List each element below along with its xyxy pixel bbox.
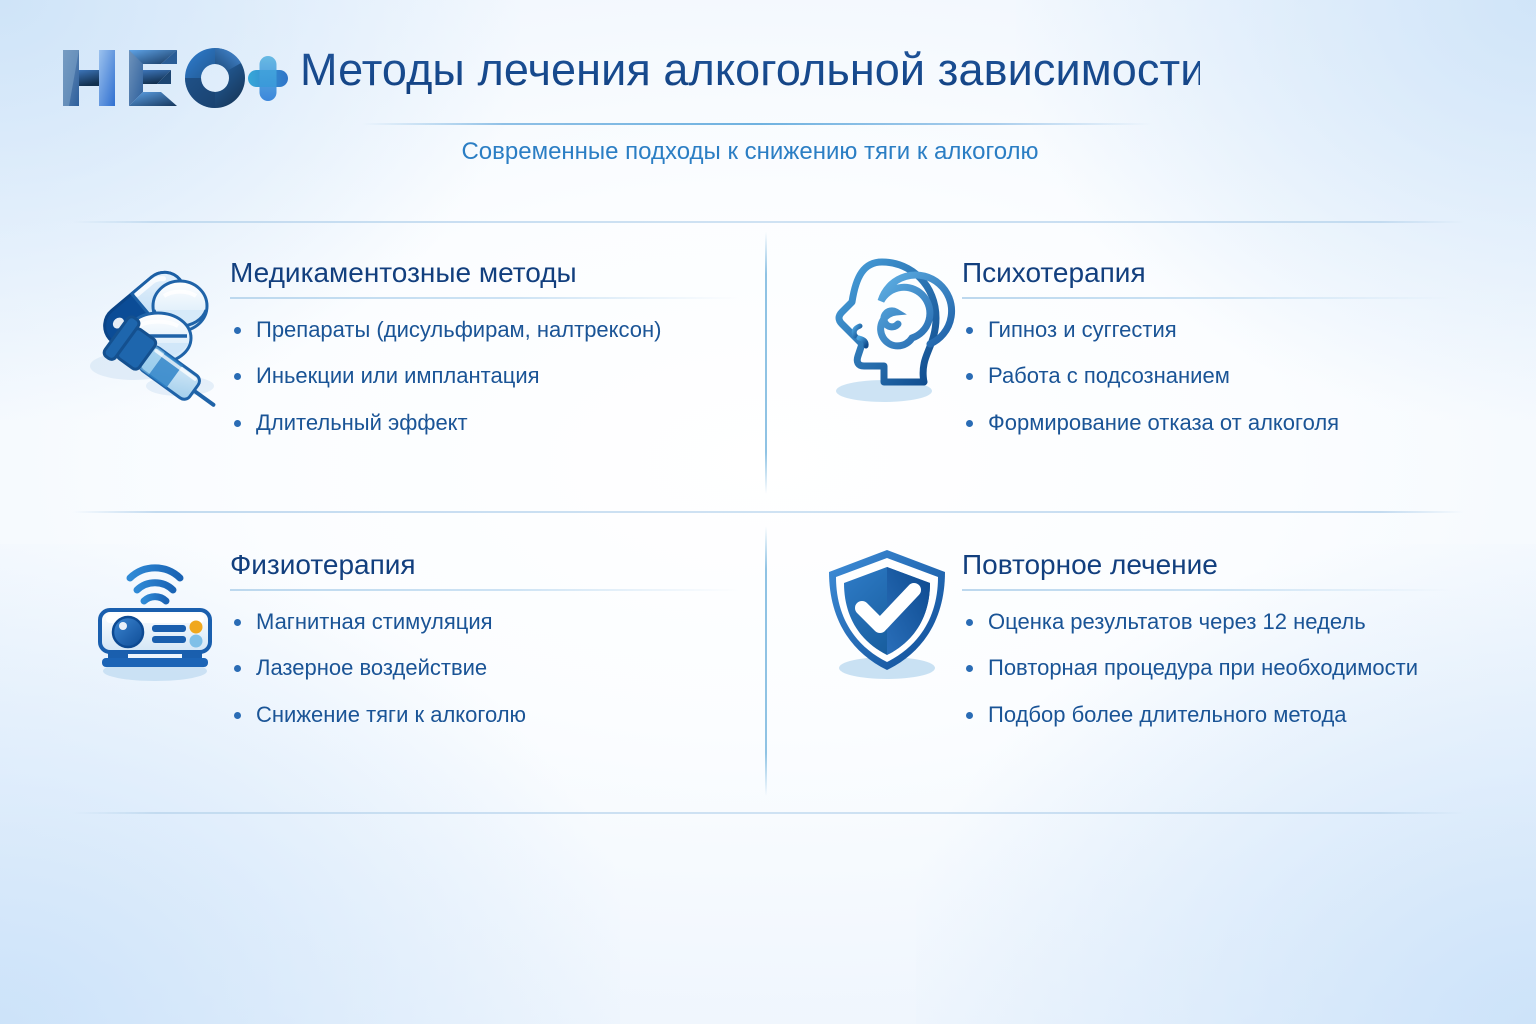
list-item: Повторная процедура при необходимости — [962, 653, 1452, 682]
card-repeat-treatment[interactable]: Повторное лечение Оценка результатов чер… — [812, 540, 1452, 729]
card-body: Психотерапия Гипноз и суггестия Работа с… — [962, 248, 1452, 437]
card-psychotherapy[interactable]: Психотерапия Гипноз и суггестия Работа с… — [812, 248, 1452, 437]
card-title-divider — [962, 297, 1452, 299]
list-item: Подбор более длительного метода — [962, 700, 1452, 729]
list-item: Оценка результатов через 12 недель — [962, 607, 1452, 636]
list-item: Гипноз и суггестия — [962, 315, 1452, 344]
card-bullet-list: Гипноз и суггестия Работа с подсознанием… — [962, 315, 1452, 437]
card-body: Медикаментозные методы Препараты (дисуль… — [230, 248, 740, 437]
card-bullet-list: Препараты (дисульфирам, налтрексон) Инье… — [230, 315, 740, 437]
card-title-divider — [962, 589, 1452, 591]
list-item: Магнитная стимуляция — [230, 607, 740, 636]
list-item: Работа с подсознанием — [962, 361, 1452, 390]
card-bullet-list: Магнитная стимуляция Лазерное воздействи… — [230, 607, 740, 729]
grid-divider-middle — [72, 511, 1464, 513]
card-body: Повторное лечение Оценка результатов чер… — [962, 540, 1452, 729]
grid-divider-bottom — [72, 812, 1464, 814]
infographic-page: Методы лечения алкогольной зависимости С… — [0, 0, 1536, 1024]
card-title-divider — [230, 297, 740, 299]
page-title: Методы лечения алкогольной зависимости — [300, 44, 1200, 96]
grid-divider-top — [72, 221, 1464, 223]
card-title-divider — [230, 589, 740, 591]
pills-and-syringe-icon — [80, 248, 230, 408]
list-item: Иньекции или имплантация — [230, 361, 740, 390]
list-item: Препараты (дисульфирам, налтрексон) — [230, 315, 740, 344]
page-subtitle: Современные подходы к снижению тяги к ал… — [300, 138, 1200, 166]
title-divider — [362, 123, 1152, 125]
card-bullet-list: Оценка результатов через 12 недель Повто… — [962, 607, 1452, 729]
list-item: Длительный эффект — [230, 408, 740, 437]
grid-divider-vertical-top — [765, 232, 767, 494]
list-item: Лазерное воздействие — [230, 653, 740, 682]
neo-plus-logo — [57, 42, 289, 114]
header: Методы лечения алкогольной зависимости С… — [0, 0, 1536, 190]
card-title: Повторное лечение — [962, 550, 1452, 581]
card-medication[interactable]: Медикаментозные методы Препараты (дисуль… — [80, 248, 740, 437]
list-item: Снижение тяги к алкоголю — [230, 700, 740, 729]
grid-divider-vertical-bottom — [765, 526, 767, 796]
wave-emitting-device-icon — [80, 540, 230, 690]
shield-check-icon — [812, 540, 962, 690]
card-physiotherapy[interactable]: Физиотерапия Магнитная стимуляция Лазерн… — [80, 540, 740, 729]
head-with-spiral-icon — [812, 248, 962, 408]
list-item: Формирование отказа от алкоголя — [962, 408, 1452, 437]
card-title: Психотерапия — [962, 258, 1452, 289]
card-title: Физиотерапия — [230, 550, 740, 581]
card-body: Физиотерапия Магнитная стимуляция Лазерн… — [230, 540, 740, 729]
card-title: Медикаментозные методы — [230, 258, 740, 289]
